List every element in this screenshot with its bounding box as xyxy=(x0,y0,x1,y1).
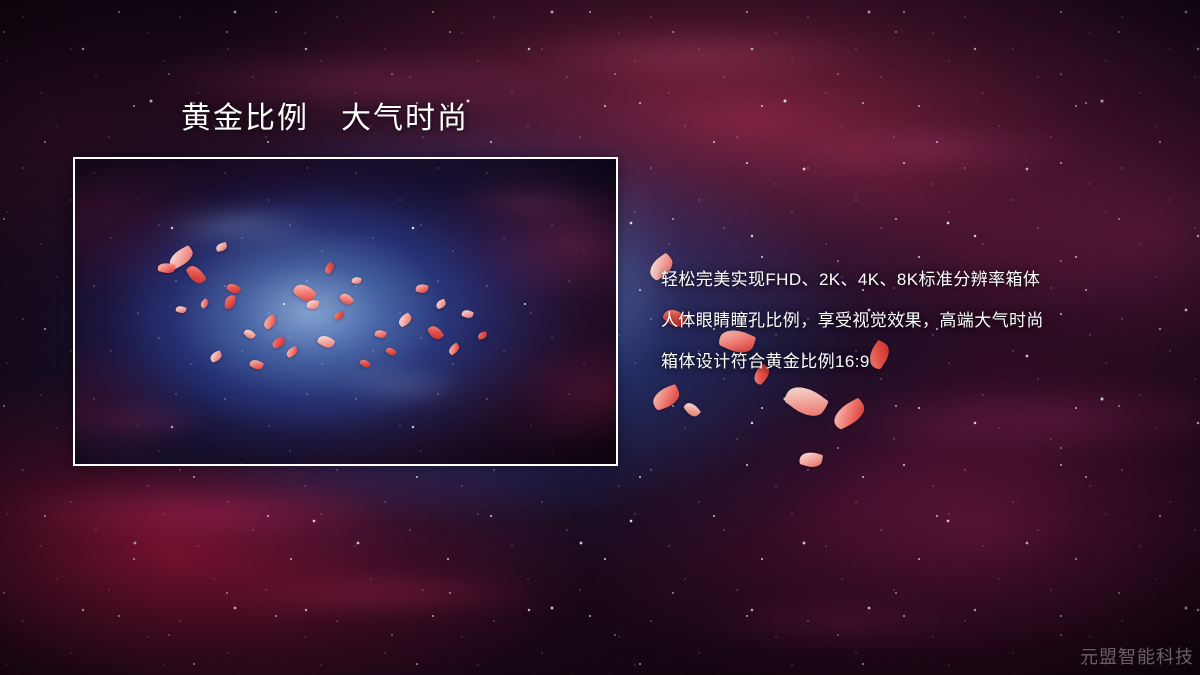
body-line-1: 轻松完美实现FHD、2K、4K、8K标准分辨率箱体 xyxy=(661,259,1181,300)
body-line-3: 箱体设计符合黄金比例16:9 xyxy=(661,341,1181,382)
watermark: 元盟智能科技 xyxy=(1080,645,1194,669)
petal xyxy=(650,384,683,411)
petal xyxy=(782,379,830,424)
body-text-block: 轻松完美实现FHD、2K、4K、8K标准分辨率箱体 人体眼睛瞳孔比例，享受视觉效… xyxy=(661,259,1181,382)
photo-inner xyxy=(75,159,616,464)
petal xyxy=(829,397,868,431)
nebula-petals-photo-frame xyxy=(73,157,618,466)
body-line-2: 人体眼睛瞳孔比例，享受视觉效果，高端大气时尚 xyxy=(661,300,1181,341)
page-title: 黄金比例 大气时尚 xyxy=(181,101,469,137)
petal xyxy=(798,449,823,469)
slide-canvas: 黄金比例 大气时尚 轻松完美实现FHD、2K、4K、8K标准分辨率箱体 人体眼睛… xyxy=(0,0,1200,675)
petal xyxy=(683,400,702,419)
photo-vignette xyxy=(75,159,616,464)
